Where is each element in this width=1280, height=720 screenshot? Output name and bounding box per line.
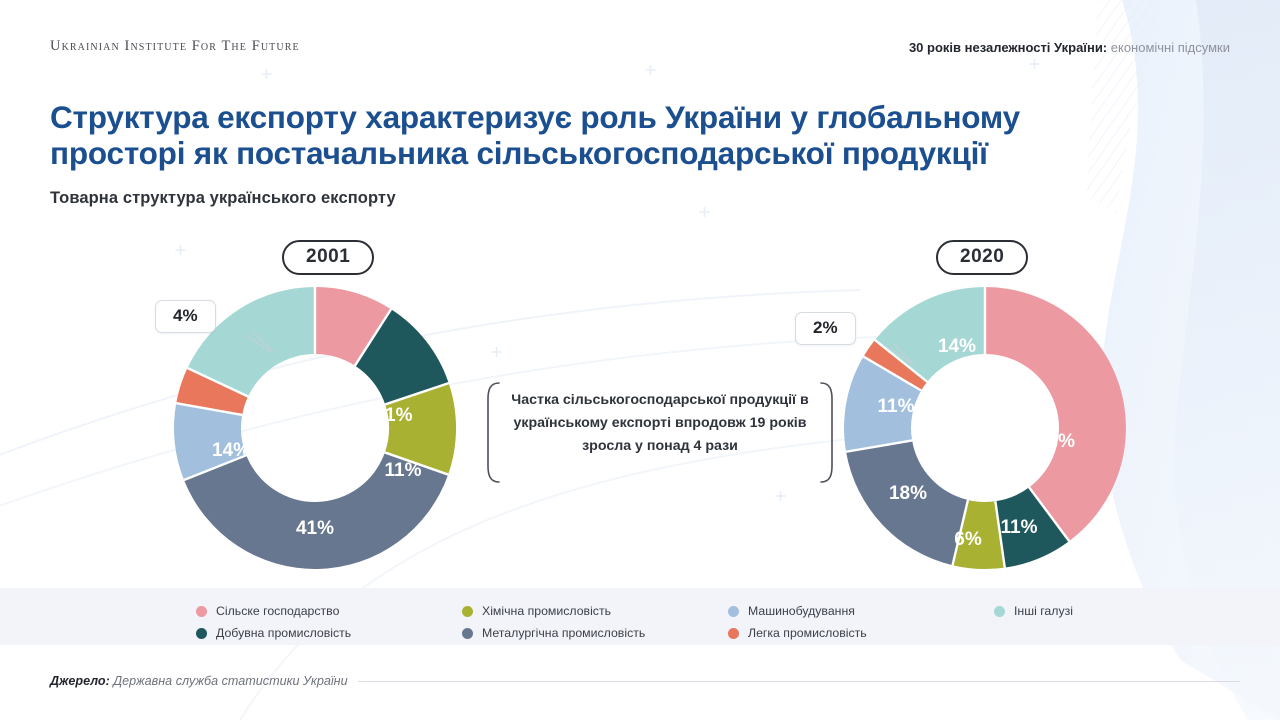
- source-footer: Джерело: Державна служба статистики Укра…: [50, 670, 1240, 692]
- donut-chart-2020: 2020: [840, 240, 1130, 570]
- legend-dot-agriculture: [196, 606, 207, 617]
- page-title-line2: просторі як постачальника сільськогоспод…: [50, 135, 1140, 171]
- legend-dot-mining: [196, 628, 207, 639]
- legend: Сільске господарство Хімічна промисловіс…: [196, 600, 1196, 645]
- slice-metallurgy-2020: [846, 440, 968, 565]
- callout-light-industry-2020: 2%: [795, 312, 856, 345]
- source-value: Державна служба статистики України: [110, 674, 348, 688]
- page-header: Ukrainian Institute for the Future 30 ро…: [0, 38, 1280, 64]
- legend-item-mining[interactable]: Добувна промисловість: [196, 626, 462, 640]
- legend-label-metallurgy: Металургічна промисловість: [482, 626, 645, 640]
- year-badge-2020: 2020: [936, 240, 1028, 275]
- legend-item-agriculture[interactable]: Сільске господарство: [196, 604, 462, 618]
- legend-item-machinery[interactable]: Машинобудування: [728, 604, 994, 618]
- donut-chart-2001: 2001: [150, 240, 480, 570]
- series-title: 30 років незалежності України: економічн…: [909, 40, 1230, 55]
- legend-dot-other: [994, 606, 1005, 617]
- legend-dot-light-industry: [728, 628, 739, 639]
- legend-dot-chemical: [462, 606, 473, 617]
- donut-2020-graphic: 38% 11% 6% 18% 11% 14%: [840, 287, 1130, 570]
- infographic-slide: Ukrainian Institute for the Future 30 ро…: [0, 0, 1280, 720]
- source-text: Джерело: Державна служба статистики Укра…: [50, 674, 348, 688]
- series-title-rest: економічні підсумки: [1107, 40, 1230, 55]
- page-title: Структура експорту характеризує роль Укр…: [50, 99, 1140, 171]
- legend-item-light-industry[interactable]: Легка промисловість: [728, 626, 994, 640]
- year-badge-2001: 2001: [282, 240, 374, 275]
- legend-item-other[interactable]: Інші галузі: [994, 604, 1196, 618]
- slice-metallurgy-2001: [184, 452, 448, 569]
- brand-name: Ukrainian Institute for the Future: [50, 38, 300, 55]
- legend-label-mining: Добувна промисловість: [216, 626, 351, 640]
- legend-item-chemical[interactable]: Хімічна промисловість: [462, 604, 728, 618]
- legend-label-chemical: Хімічна промисловість: [482, 604, 611, 618]
- legend-label-other: Інші галузі: [1014, 604, 1073, 618]
- legend-label-light-industry: Легка промисловість: [748, 626, 867, 640]
- callout-light-industry-2001: 4%: [155, 300, 216, 333]
- legend-dot-machinery: [728, 606, 739, 617]
- legend-item-metallurgy[interactable]: Металургічна промисловість: [462, 626, 728, 640]
- footer-divider: [358, 681, 1240, 682]
- chart-subtitle: Товарна структура українського експорту: [50, 189, 396, 208]
- series-title-bold: 30 років незалежності України:: [909, 40, 1107, 55]
- insight-note: Частка сільськогосподарської продукції в…: [485, 381, 835, 484]
- page-title-line1: Структура експорту характеризує роль Укр…: [50, 99, 1020, 135]
- source-label: Джерело:: [50, 674, 110, 688]
- legend-label-machinery: Машинобудування: [748, 604, 855, 618]
- insight-note-text: Частка сільськогосподарської продукції в…: [507, 389, 813, 458]
- legend-label-agriculture: Сільске господарство: [216, 604, 339, 618]
- legend-dot-metallurgy: [462, 628, 473, 639]
